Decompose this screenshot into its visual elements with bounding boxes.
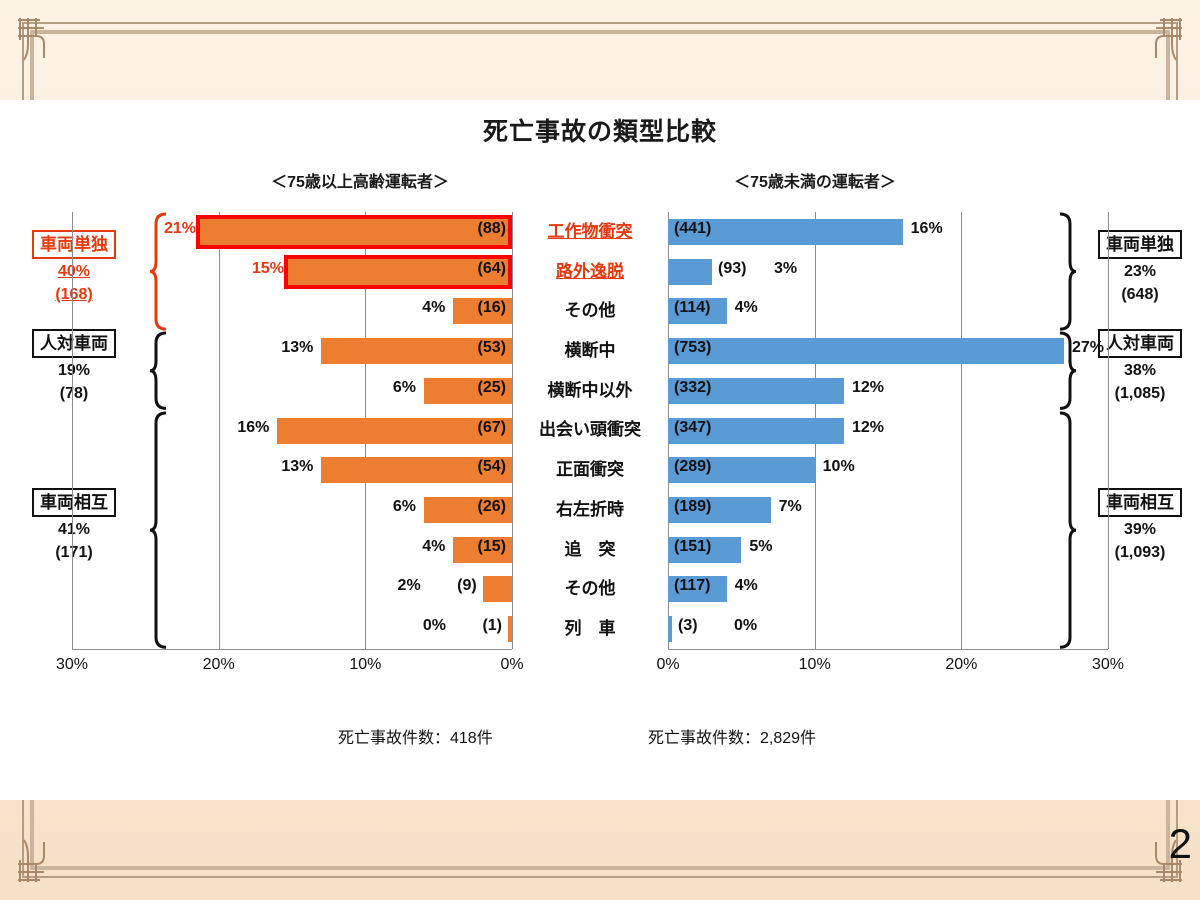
x-axis-right: 0%10%20%30% [668,656,1108,678]
bar-percent-label: 6% [393,379,416,397]
subtitle-left-chart: ＜75歳以上高齢運転者＞ [200,168,520,192]
bar-plot-left: (88)21%(64)15%(16)4%(53)13%(25)6%(67)16%… [72,212,512,649]
bar-percent-label: 4% [422,538,445,556]
bar-count-label: (9) [457,577,477,595]
bar-row: (93)3% [668,252,1108,292]
total-count-right: 死亡事故件数：2,829件 [648,724,816,748]
group-name-box: 車両相互 [1098,488,1182,518]
bar-row: (289)10% [668,450,1108,490]
bar-percent-label: 12% [852,419,884,437]
bar-count-label: (117) [674,577,710,595]
bar-row: (332)12% [668,371,1108,411]
bar-left-9[interactable] [483,576,512,602]
bar-row: (3)0% [668,609,1108,649]
bar-percent-label: 3% [774,260,797,278]
bar-row: (114)4% [668,291,1108,331]
bar-plot-right: (441)16%(93)3%(114)4%(753)27%(332)12%(34… [668,212,1108,649]
bar-right-10[interactable] [668,616,672,642]
bar-percent-label: 4% [735,299,758,317]
bar-row: (347)12% [668,411,1108,451]
x-axis-left: 30%20%10%0% [72,656,512,678]
bar-count-label: (189) [674,498,711,516]
category-label-4: 横断中以外 [512,371,668,411]
axis-tick: 0% [500,656,523,674]
bar-count-label: (1) [482,617,502,635]
bar-row: (1)0% [72,609,512,649]
bar-row: (753)27% [668,331,1108,371]
axis-tick: 20% [203,656,235,674]
axis-tick: 20% [945,656,977,674]
category-label-8: 追 突 [512,530,668,570]
bar-row: (151)5% [668,530,1108,570]
bar-row: (88)21% [72,212,512,252]
bar-percent-label: 4% [422,299,445,317]
bar-count-label: (25) [478,379,506,397]
chart-panel: 死亡事故の類型比較 ＜75歳以上高齢運転者＞ ＜75歳未満の運転者＞ 車両単独4… [0,100,1200,800]
bar-row: (53)13% [72,331,512,371]
subtitle-right-chart: ＜75歳未満の運転者＞ [655,168,975,192]
bar-count-label: (347) [674,419,711,437]
category-label-10: 列 車 [512,609,668,649]
bar-row: (15)4% [72,530,512,570]
bar-row: (54)13% [72,450,512,490]
bar-percent-label: 2% [398,577,421,595]
bar-right-3[interactable] [668,338,1064,364]
bar-row: (26)6% [72,490,512,530]
category-label-0: 工作物衝突 [512,212,668,252]
category-label-2: その他 [512,291,668,331]
axis-tick: 30% [1092,656,1124,674]
bar-percent-label: 5% [749,538,772,556]
bar-count-label: (441) [674,220,711,238]
bar-percent-label: 4% [735,577,758,595]
bar-percent-label: 7% [779,498,802,516]
bar-percent-label: 21% [164,220,196,238]
total-count-left: 死亡事故件数：418件 [338,724,493,748]
bar-percent-label: 0% [423,617,446,635]
axis-line-left [72,649,512,650]
bar-row: (117)4% [668,569,1108,609]
category-label-3: 横断中 [512,331,668,371]
bar-count-label: (26) [478,498,506,516]
category-label-1: 路外逸脱 [512,252,668,292]
bar-count-label: (151) [674,538,711,556]
bar-count-label: (114) [674,299,710,317]
page-number: 2 [1169,820,1192,868]
category-label-7: 右左折時 [512,490,668,530]
axis-line-right [668,649,1108,650]
axis-tick: 0% [656,656,679,674]
category-labels: 工作物衝突路外逸脱その他横断中横断中以外出会い頭衝突正面衝突右左折時追 突その他… [512,212,668,649]
page-title: 死亡事故の類型比較 [0,112,1200,148]
bar-percent-label: 12% [852,379,884,397]
bar-count-label: (15) [478,538,506,556]
bar-left-0[interactable] [196,215,512,249]
group-name-box: 人対車両 [1098,329,1182,359]
axis-tick: 10% [799,656,831,674]
category-label-9: その他 [512,569,668,609]
axis-tick: 10% [349,656,381,674]
bar-count-label: (67) [478,419,506,437]
bar-row: (67)16% [72,411,512,451]
bar-row: (9)2% [72,569,512,609]
bar-count-label: (93) [718,260,746,278]
group-name-box: 車両単独 [1098,230,1182,260]
bar-percent-label: 0% [734,617,757,635]
gridline [1108,212,1109,649]
bar-percent-label: 15% [252,260,284,278]
bar-row: (64)15% [72,252,512,292]
category-label-6: 正面衝突 [512,450,668,490]
bar-count-label: (16) [478,299,506,317]
bar-percent-label: 10% [823,458,855,476]
bar-count-label: (289) [674,458,711,476]
bar-row: (189)7% [668,490,1108,530]
bar-count-label: (64) [478,260,506,278]
bar-percent-label: 13% [281,339,313,357]
bar-count-label: (332) [674,379,711,397]
bar-percent-label: 16% [911,220,943,238]
bar-count-label: (753) [674,339,711,357]
axis-tick: 30% [56,656,88,674]
bar-row: (25)6% [72,371,512,411]
bar-percent-label: 27% [1072,339,1104,357]
bar-percent-label: 13% [281,458,313,476]
bar-count-label: (54) [478,458,506,476]
bar-row: (441)16% [668,212,1108,252]
bar-count-label: (53) [478,339,506,357]
bar-count-label: (88) [478,220,506,238]
category-label-5: 出会い頭衝突 [512,410,668,450]
bar-count-label: (3) [678,617,698,635]
bar-row: (16)4% [72,291,512,331]
bar-percent-label: 16% [237,419,269,437]
bar-percent-label: 6% [393,498,416,516]
bar-right-1[interactable] [668,259,712,285]
